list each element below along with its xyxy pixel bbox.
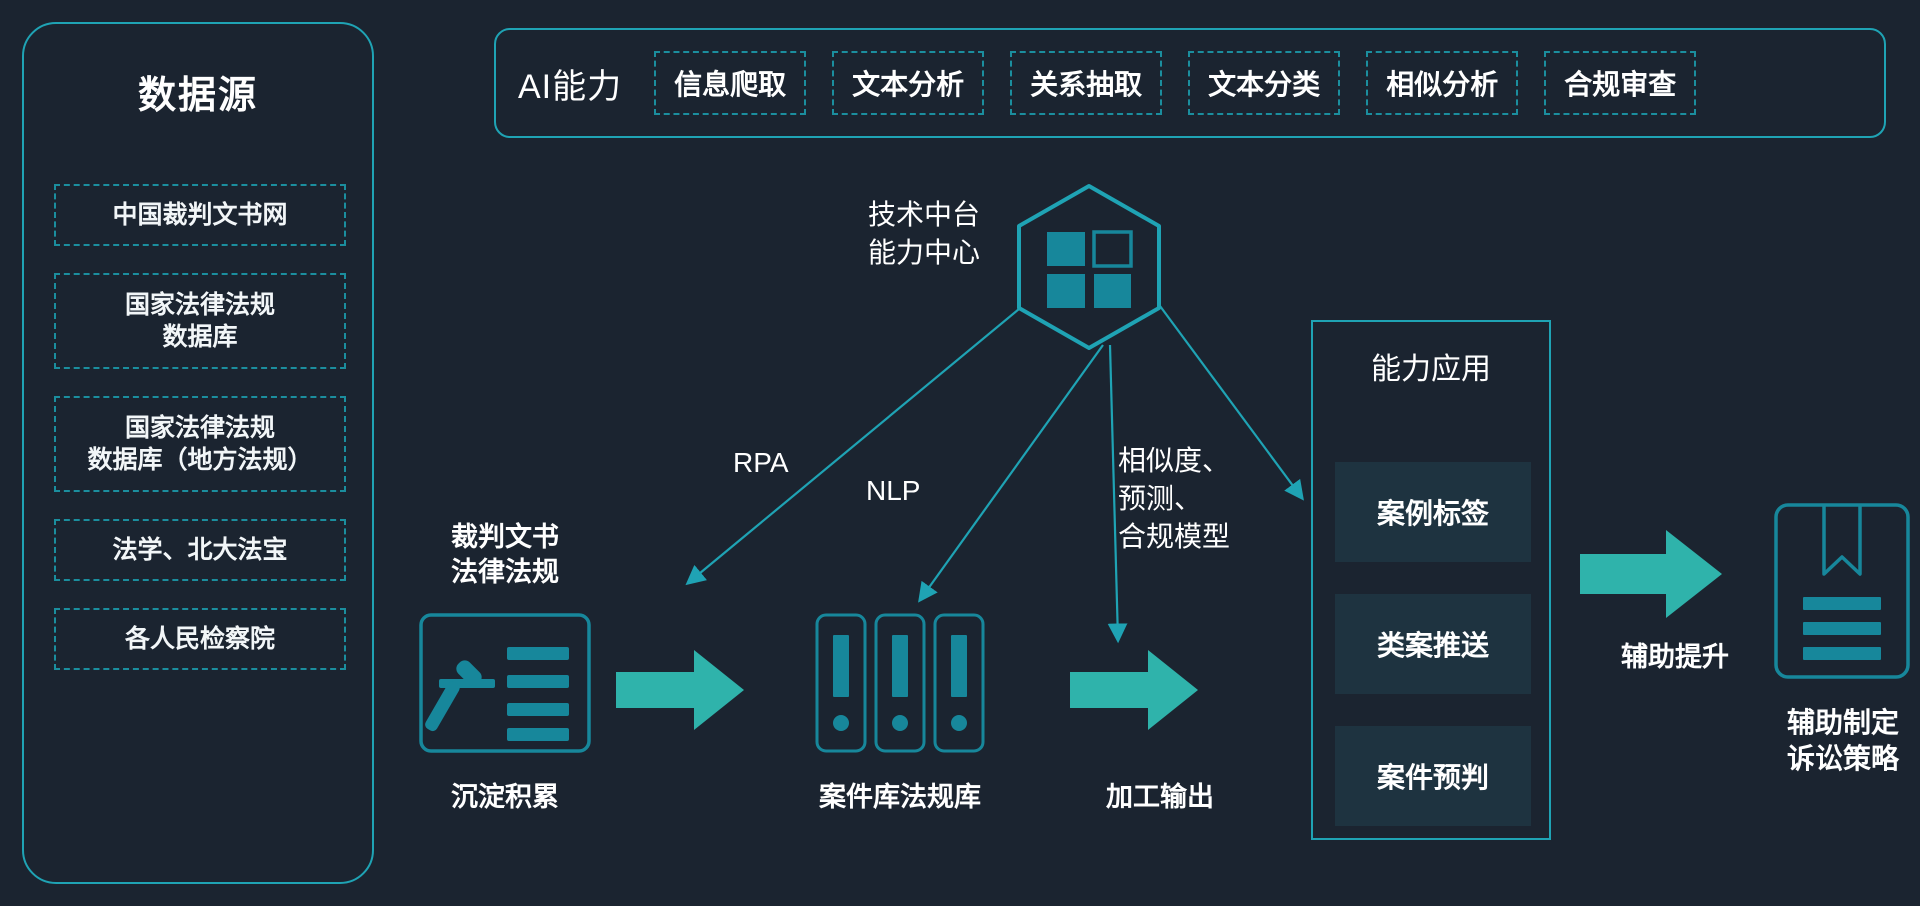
- ai-chip-4[interactable]: 相似分析: [1366, 51, 1518, 115]
- data-source-item-label: 中国裁判文书网: [112, 199, 287, 232]
- hub-label: 技术中台能力中心: [838, 196, 1010, 272]
- documents-caption: 沉淀积累: [419, 780, 591, 815]
- capability-item-0[interactable]: 案例标签: [1335, 462, 1531, 562]
- capability-item-2[interactable]: 案件预判: [1335, 726, 1531, 826]
- hexagon-grid-icon: [1014, 182, 1164, 352]
- right-arrow-icon: [1580, 528, 1724, 620]
- data-source-item-0[interactable]: 中国裁判文书网: [54, 184, 346, 246]
- repository-caption: 案件库法规库: [800, 780, 1000, 815]
- ai-chip-1[interactable]: 文本分析: [832, 51, 984, 115]
- capability-panel-title: 能力应用: [1313, 344, 1549, 388]
- ai-chip-5[interactable]: 合规审查: [1544, 51, 1696, 115]
- data-source-title: 数据源: [24, 64, 372, 119]
- data-source-panel: 数据源 中国裁判文书网 国家法律法规数据库 国家法律法规数据库（地方法规） 法学…: [22, 22, 374, 884]
- data-source-item-label: 法学、北大法宝: [112, 534, 287, 567]
- diagram-canvas: 数据源 中国裁判文书网 国家法律法规数据库 国家法律法规数据库（地方法规） 法学…: [0, 0, 1920, 906]
- ai-chip-0[interactable]: 信息爬取: [654, 51, 806, 115]
- capability-item-1[interactable]: 类案推送: [1335, 594, 1531, 694]
- data-source-item-2[interactable]: 国家法律法规数据库（地方法规）: [54, 396, 346, 492]
- data-source-item-label: 各人民检察院: [125, 623, 275, 656]
- ai-chip-2[interactable]: 关系抽取: [1010, 51, 1162, 115]
- right-arrow-icon: [616, 648, 746, 732]
- wire-output: [1110, 345, 1118, 640]
- ai-capability-bar: AI能力 信息爬取 文本分析 关系抽取 文本分类 相似分析 合规审查: [494, 28, 1886, 138]
- ai-capability-title: AI能力: [518, 59, 628, 108]
- bookmark-document-icon: [1773, 502, 1911, 680]
- data-source-item-label: 国家法律法规数据库（地方法规）: [87, 412, 312, 477]
- right-arrow-icon: [1070, 648, 1200, 732]
- data-source-item-1[interactable]: 国家法律法规数据库: [54, 273, 346, 369]
- edge-label-similarity: 相似度、预测、合规模型: [1118, 442, 1230, 555]
- gavel-document-icon: [419, 613, 591, 753]
- data-source-item-4[interactable]: 各人民检察院: [54, 608, 346, 670]
- data-source-item-label: 国家法律法规数据库: [125, 289, 275, 354]
- final-caption: 辅助制定诉讼策略: [1748, 705, 1920, 778]
- data-source-item-3[interactable]: 法学、北大法宝: [54, 519, 346, 581]
- documents-top-label: 裁判文书法律法规: [419, 520, 591, 590]
- assist-caption: 辅助提升: [1580, 640, 1770, 675]
- ai-chip-3[interactable]: 文本分类: [1188, 51, 1340, 115]
- edge-label-nlp: NLP: [866, 472, 920, 510]
- capability-application-panel: 能力应用 案例标签 类案推送 案件预判: [1311, 320, 1551, 840]
- server-rack-icon: [815, 613, 985, 753]
- wire-nlp: [920, 345, 1103, 600]
- output-caption: 加工输出: [1070, 780, 1250, 815]
- edge-label-rpa: RPA: [733, 444, 789, 482]
- data-source-list: 中国裁判文书网 国家法律法规数据库 国家法律法规数据库（地方法规） 法学、北大法…: [54, 184, 346, 697]
